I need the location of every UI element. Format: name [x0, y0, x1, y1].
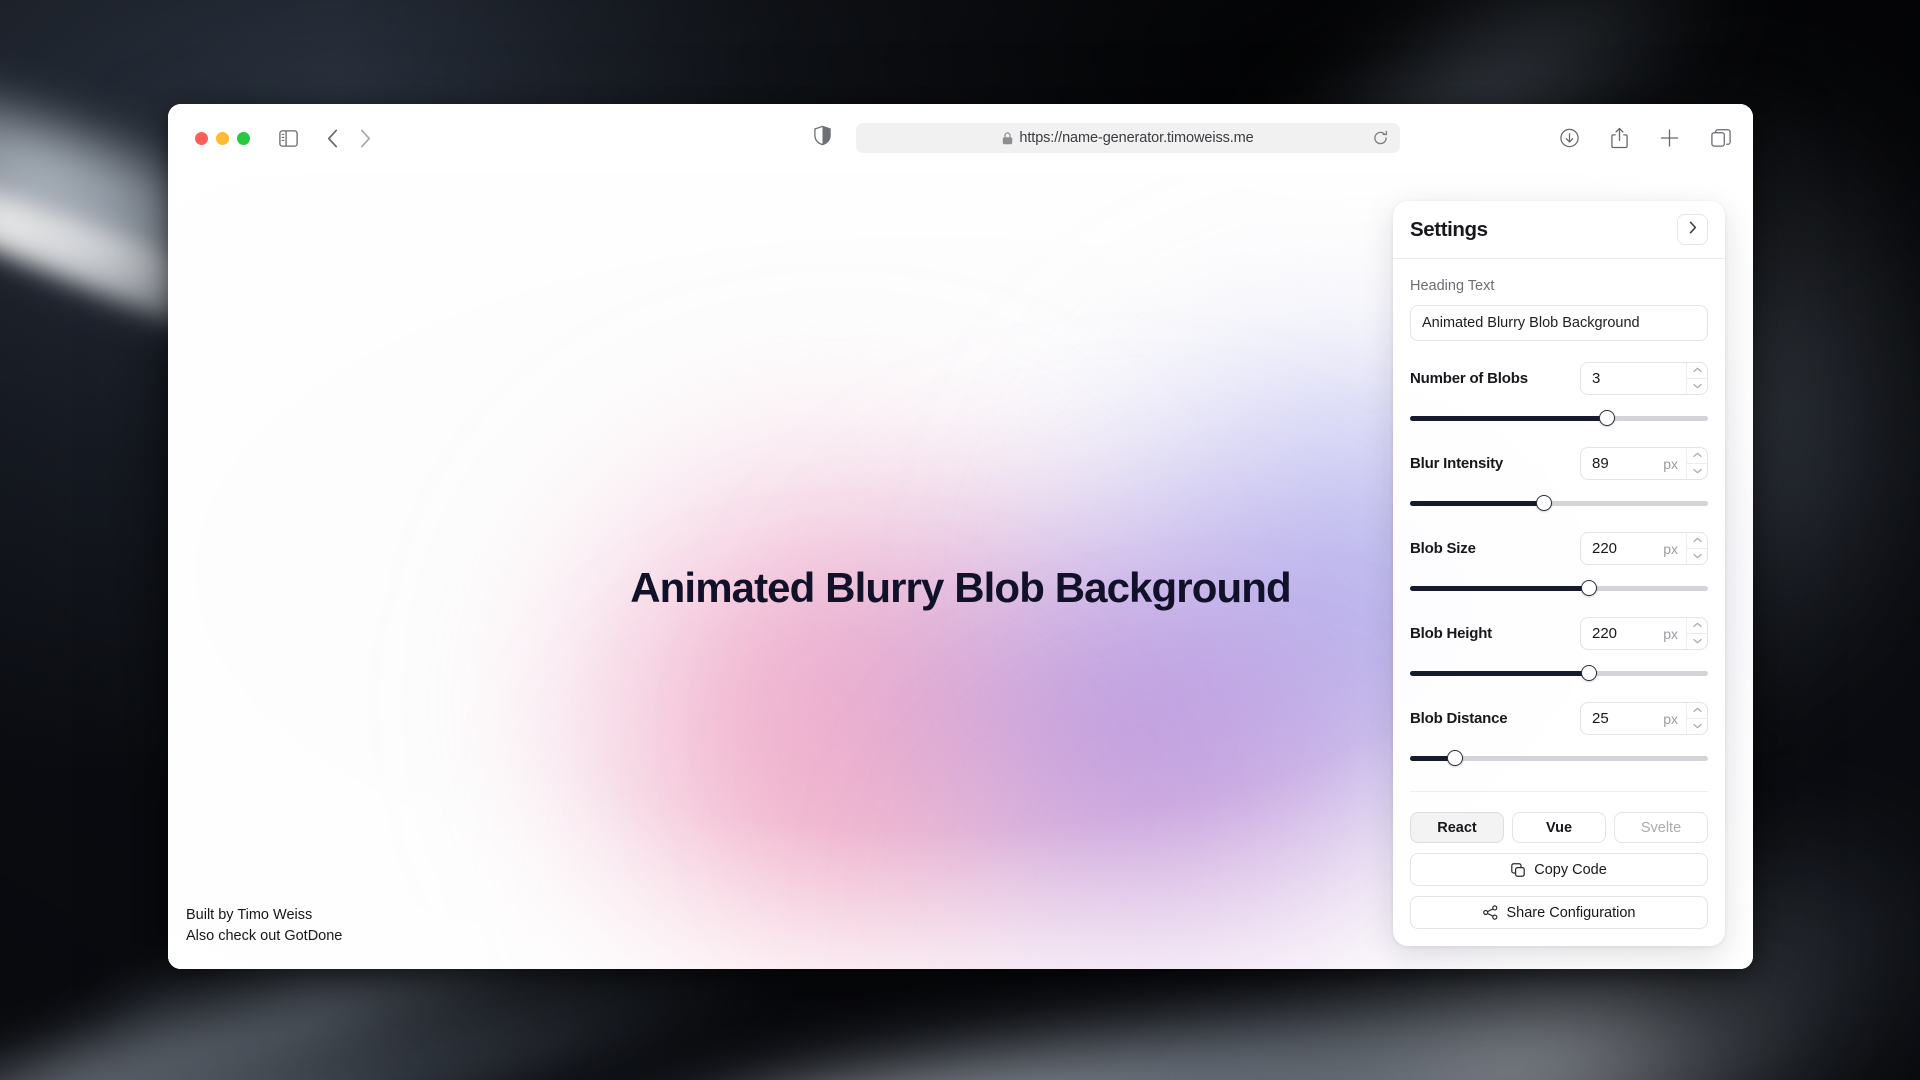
zoom-button[interactable] — [237, 132, 250, 145]
sidebar-icon[interactable] — [279, 130, 298, 147]
share-network-icon — [1483, 905, 1498, 920]
shield-icon[interactable] — [814, 126, 831, 151]
control-label: Blob Size — [1410, 540, 1476, 557]
number-value: 3 — [1581, 363, 1678, 394]
control-label: Number of Blobs — [1410, 370, 1528, 387]
stepper — [1686, 533, 1707, 564]
forward-icon[interactable] — [360, 129, 371, 148]
control-number-of-blobs: Number of Blobs 3 — [1410, 362, 1708, 426]
settings-panel-body: Heading Text Number of Blobs 3 — [1393, 259, 1725, 946]
stepper-down-icon[interactable] — [1687, 549, 1707, 565]
stepper-up-icon[interactable] — [1687, 533, 1707, 549]
number-unit: px — [1663, 618, 1686, 649]
slider-thumb[interactable] — [1581, 665, 1597, 681]
number-input[interactable]: 25 px — [1580, 702, 1708, 735]
stepper-up-icon[interactable] — [1687, 363, 1707, 379]
slider-fill — [1410, 501, 1544, 506]
framework-tabs: React Vue Svelte — [1410, 791, 1708, 843]
slider-blob-size[interactable] — [1410, 580, 1708, 596]
slider-fill — [1410, 416, 1607, 421]
tab-svelte[interactable]: Svelte — [1614, 812, 1708, 843]
slider-thumb[interactable] — [1447, 750, 1463, 766]
browser-window: https://name-generator.timoweiss.me — [168, 104, 1753, 969]
number-value: 25 — [1581, 703, 1663, 734]
copy-code-label: Copy Code — [1534, 862, 1607, 878]
lock-icon — [1002, 132, 1013, 145]
share-icon[interactable] — [1611, 128, 1628, 149]
control-label: Blob Height — [1410, 625, 1492, 642]
number-input[interactable]: 220 px — [1580, 532, 1708, 565]
share-configuration-button[interactable]: Share Configuration — [1410, 896, 1708, 929]
reload-icon[interactable] — [1373, 131, 1388, 146]
number-value: 89 — [1581, 448, 1663, 479]
control-blur-intensity: Blur Intensity 89 px — [1410, 447, 1708, 511]
window-controls — [195, 132, 250, 145]
stepper-down-icon[interactable] — [1687, 379, 1707, 395]
stepper — [1686, 363, 1707, 394]
stepper — [1686, 448, 1707, 479]
minimize-button[interactable] — [216, 132, 229, 145]
number-unit: px — [1663, 448, 1686, 479]
slider-blur-intensity[interactable] — [1410, 495, 1708, 511]
slider-thumb[interactable] — [1599, 410, 1615, 426]
copy-code-button[interactable]: Copy Code — [1410, 853, 1708, 886]
tab-overview-icon[interactable] — [1711, 129, 1731, 148]
slider-fill — [1410, 586, 1589, 591]
number-input[interactable]: 89 px — [1580, 447, 1708, 480]
collapse-panel-button[interactable] — [1677, 214, 1708, 245]
control-blob-size: Blob Size 220 px — [1410, 532, 1708, 596]
slider-number-of-blobs[interactable] — [1410, 410, 1708, 426]
slider-thumb[interactable] — [1581, 580, 1597, 596]
number-unit: px — [1663, 703, 1686, 734]
built-by-link[interactable]: Built by Timo Weiss — [186, 905, 342, 926]
number-value: 220 — [1581, 618, 1663, 649]
url-text: https://name-generator.timoweiss.me — [1019, 130, 1253, 146]
gotdone-link[interactable]: Also check out GotDone — [186, 926, 342, 947]
number-unit — [1678, 363, 1686, 394]
close-button[interactable] — [195, 132, 208, 145]
slider-fill — [1410, 671, 1589, 676]
stepper — [1686, 618, 1707, 649]
heading-text-label: Heading Text — [1410, 278, 1708, 294]
downloads-icon[interactable] — [1560, 129, 1579, 148]
chevron-right-icon — [1689, 221, 1697, 239]
copy-icon — [1511, 863, 1525, 877]
stepper-down-icon[interactable] — [1687, 719, 1707, 735]
stepper-down-icon[interactable] — [1687, 634, 1707, 650]
new-tab-icon[interactable] — [1660, 129, 1679, 148]
stepper-up-icon[interactable] — [1687, 448, 1707, 464]
number-unit: px — [1663, 533, 1686, 564]
control-blob-height: Blob Height 220 px — [1410, 617, 1708, 681]
settings-panel: Settings Heading Text — [1393, 201, 1725, 946]
tab-vue[interactable]: Vue — [1512, 812, 1606, 843]
stepper-up-icon[interactable] — [1687, 703, 1707, 719]
number-input[interactable]: 220 px — [1580, 617, 1708, 650]
tab-react[interactable]: React — [1410, 812, 1504, 843]
number-value: 220 — [1581, 533, 1663, 564]
slider-thumb[interactable] — [1536, 495, 1552, 511]
number-input[interactable]: 3 — [1580, 362, 1708, 395]
browser-toolbar: https://name-generator.timoweiss.me — [168, 104, 1753, 172]
desktop: https://name-generator.timoweiss.me — [0, 0, 1920, 1080]
address-bar[interactable]: https://name-generator.timoweiss.me — [856, 123, 1400, 153]
control-blob-distance: Blob Distance 25 px — [1410, 702, 1708, 766]
settings-panel-header: Settings — [1393, 201, 1725, 259]
stepper-up-icon[interactable] — [1687, 618, 1707, 634]
settings-title: Settings — [1410, 218, 1488, 242]
slider-blob-height[interactable] — [1410, 665, 1708, 681]
slider-blob-distance[interactable] — [1410, 750, 1708, 766]
control-label: Blob Distance — [1410, 710, 1507, 727]
toolbar-actions — [1560, 128, 1731, 149]
stepper — [1686, 703, 1707, 734]
page-viewport: Animated Blurry Blob Background Built by… — [168, 172, 1753, 969]
back-icon[interactable] — [327, 129, 338, 148]
stepper-down-icon[interactable] — [1687, 464, 1707, 480]
heading-text-input[interactable] — [1410, 305, 1708, 341]
footer-credits: Built by Timo Weiss Also check out GotDo… — [186, 905, 342, 947]
control-label: Blur Intensity — [1410, 455, 1503, 472]
share-configuration-label: Share Configuration — [1507, 905, 1636, 921]
